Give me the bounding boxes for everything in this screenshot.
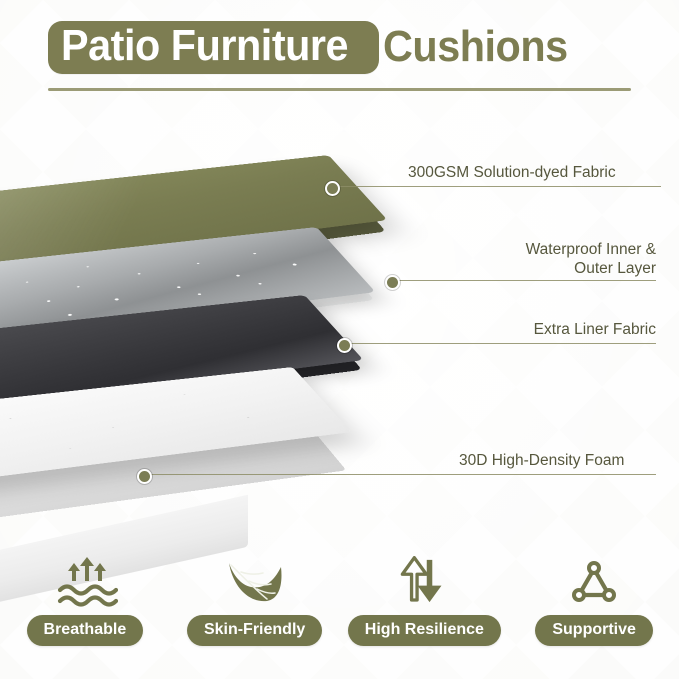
title-badge: Patio Furniture [48, 21, 379, 74]
callout-label-liner: Extra Liner Fabric [400, 320, 656, 339]
header: Patio Furniture Cushions [0, 18, 679, 90]
leader-line-liner [348, 343, 656, 344]
callout-dot-waterproof [385, 275, 400, 290]
feature-label-skin-friendly: Skin-Friendly [187, 615, 322, 646]
leader-line-foam [148, 474, 656, 475]
feather-icon [223, 556, 287, 608]
infographic-root: Patio Furniture Cushions 300GSM Solution… [0, 0, 679, 679]
triangle-nodes-icon [565, 556, 623, 608]
feature-skin-friendly: Skin-Friendly [170, 556, 340, 646]
page-title: Patio Furniture Cushions [48, 18, 580, 76]
callout-dot-liner [337, 338, 352, 353]
feature-label-supportive: Supportive [535, 615, 653, 646]
callout-dot-fabric [325, 181, 340, 196]
feature-high-resilience: High Resilience [340, 556, 510, 646]
title-underline [48, 88, 631, 91]
feature-badges: Breathable Skin-Friendly [0, 556, 679, 666]
title-badge-label: Patio Furniture [61, 24, 348, 68]
up-down-arrows-icon [397, 556, 451, 608]
breathable-airflow-icon [52, 556, 118, 608]
leader-line-waterproof [396, 280, 656, 281]
callout-label-foam: 30D High-Density Foam [459, 451, 679, 470]
feature-label-high-resilience: High Resilience [348, 615, 501, 646]
title-tail-label: Cushions [383, 25, 568, 69]
feature-breathable: Breathable [0, 556, 170, 646]
feature-supportive: Supportive [509, 556, 679, 646]
callout-label-waterproof: Waterproof Inner & Outer Layer [400, 240, 656, 278]
product-layer-stack [0, 132, 430, 512]
feature-label-breathable: Breathable [27, 615, 144, 646]
callout-dot-foam [137, 469, 152, 484]
leader-line-fabric [336, 186, 661, 187]
callout-label-fabric: 300GSM Solution-dyed Fabric [408, 163, 673, 182]
